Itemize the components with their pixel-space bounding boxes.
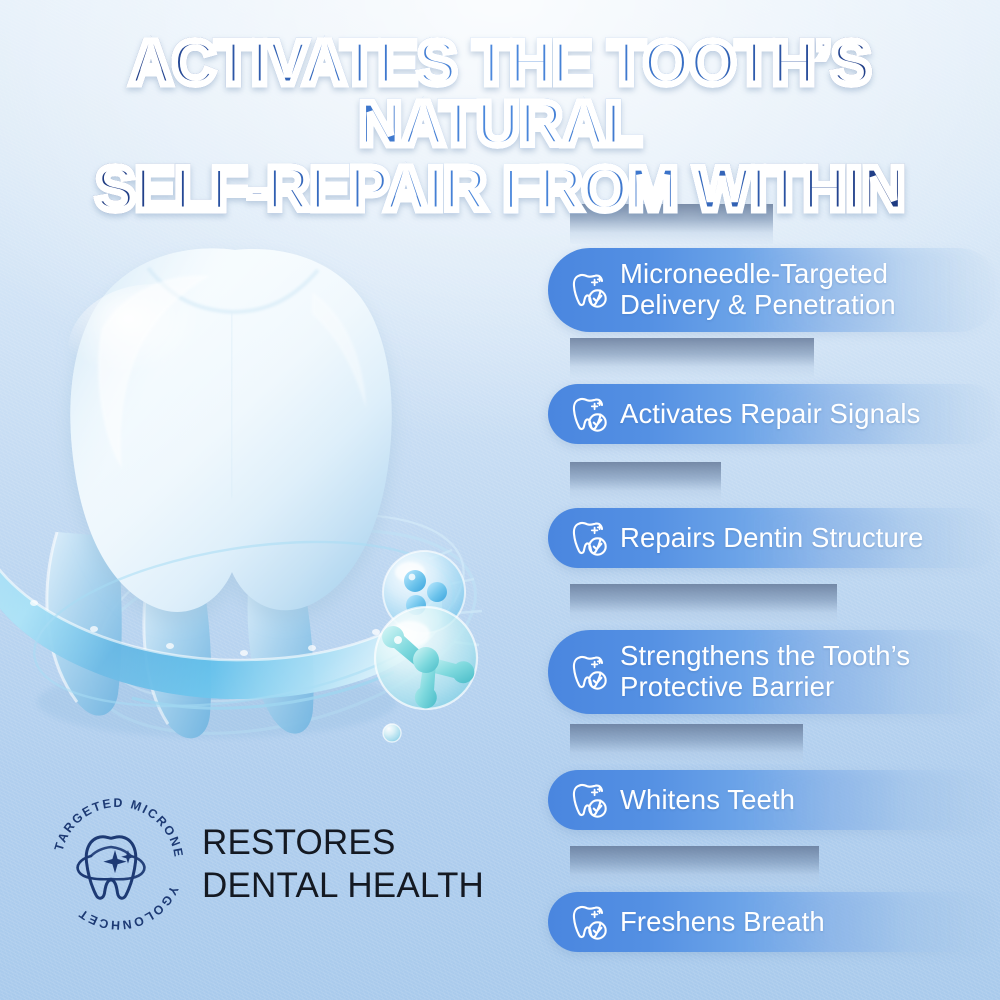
seal-ring-text-top: TARGETED MICRONEEDLE [44,790,186,859]
feature-pill-repair[interactable]: Repairs Dentin Structure [548,508,1000,568]
category-label-freshness: FRESHNESS [570,846,819,886]
headline-line-1: ACTIVATES THE TOOTH’S NATURAL [15,34,985,156]
technology-seal: TARGETED MICRONEEDLE YGOLONHCET [44,790,192,938]
feature-text-repair: Repairs Dentin Structure [620,523,924,554]
tooth-check-icon [566,515,612,561]
feature-text-protection: Strengthens the Tooth’s Protective Barri… [620,641,910,703]
feature-pill-freshness[interactable]: Freshens Breath [548,892,1000,952]
category-label-activation: ACTIVATION [570,338,814,378]
feature-pill-protection[interactable]: Strengthens the Tooth’s Protective Barri… [548,630,1000,714]
category-label-repair: REPAIR [570,462,721,502]
headline: ACTIVATES THE TOOTH’S NATURAL SELF-REPAI… [0,34,1000,220]
feature-group-whitening: WHITENING [548,718,1000,840]
headline-line-2: SELF-REPAIR FROM WITHIN [15,160,985,221]
feature-group-repair: REPAIR [548,456,1000,580]
category-label-protection: PROTECTION [570,584,837,624]
feature-text-freshness: Freshens Breath [620,907,825,938]
feature-pill-delivery[interactable]: Microneedle-Targeted Delivery & Penetrat… [548,248,1000,332]
molecule-bubble-y-group [370,600,510,760]
seal-and-tagline: TARGETED MICRONEEDLE YGOLONHCET RESTORES… [44,790,484,938]
tooth-check-icon [566,777,612,823]
feature-text-delivery: Microneedle-Targeted Delivery & Penetrat… [620,259,896,321]
feature-text-activation: Activates Repair Signals [620,399,920,430]
tooth-sparkle-orbit-icon [78,837,145,899]
feature-group-freshness: FRESHNESS [548,840,1000,962]
feature-pill-activation[interactable]: Activates Repair Signals [548,384,1000,444]
tooth-check-icon [566,391,612,437]
tooth-crown [68,248,392,612]
feature-text-whitening: Whitens Teeth [620,785,795,816]
feature-pill-whitening[interactable]: Whitens Teeth [548,770,1000,830]
tooth-check-icon [566,267,612,313]
tooth-check-icon [566,649,612,695]
feature-group-protection: PROTECTION [548,580,1000,718]
infographic-poster: ACTIVATES THE TOOTH’S NATURAL SELF-REPAI… [0,0,1000,1000]
category-label-whitening: WHITENING [570,724,803,764]
feature-group-activation: ACTIVATION [548,332,1000,456]
tagline-text: RESTORES DENTAL HEALTH [202,821,484,908]
tooth-check-icon [566,899,612,945]
feature-list: DELIVERY [548,198,1000,962]
